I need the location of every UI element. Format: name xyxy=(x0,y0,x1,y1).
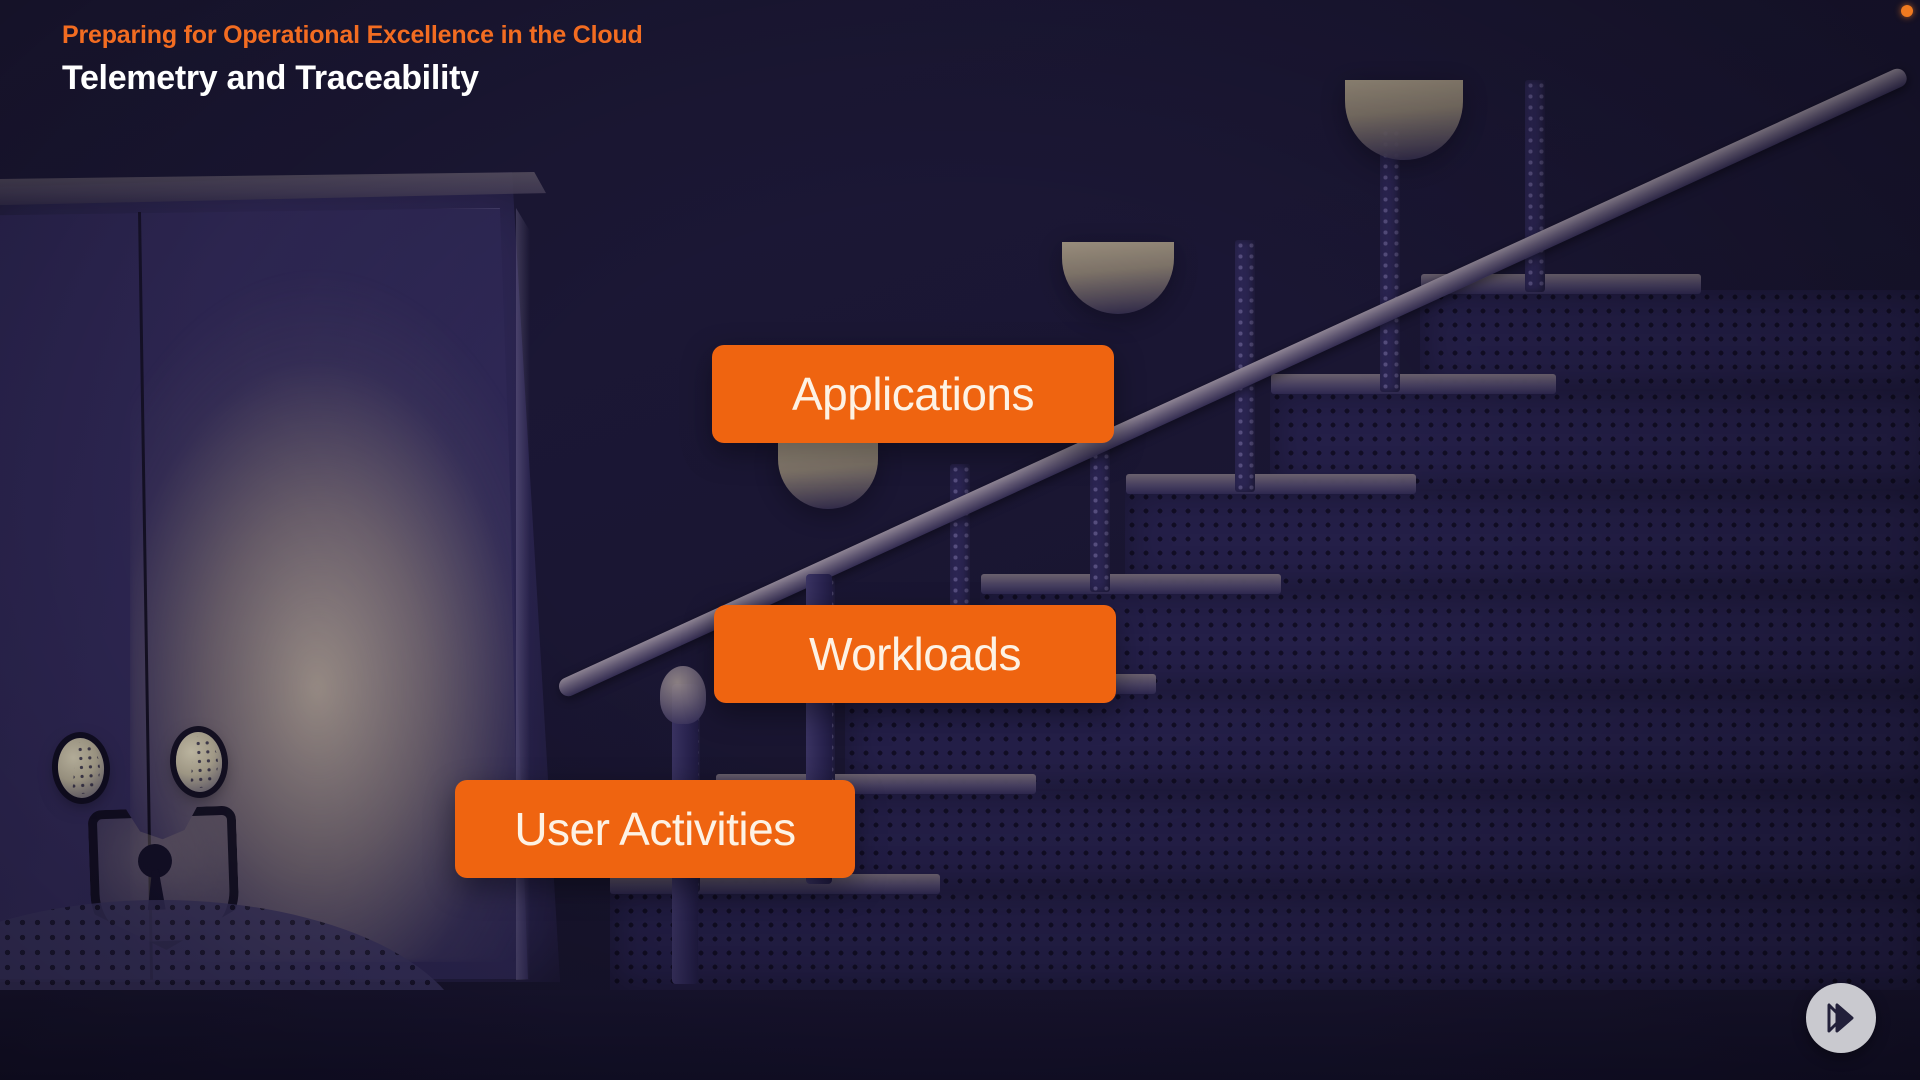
floor xyxy=(0,990,1920,1080)
stair-riser xyxy=(610,890,1920,990)
scene-background xyxy=(0,0,1920,1080)
callout-user-activities[interactable]: User Activities xyxy=(455,780,855,878)
slide-root: Preparing for Operational Excellence in … xyxy=(0,0,1920,1080)
baluster xyxy=(1380,128,1400,392)
brand-badge-button[interactable] xyxy=(1806,983,1876,1053)
doorknob-texture xyxy=(60,741,102,796)
baluster xyxy=(1525,80,1545,292)
staircase xyxy=(620,80,1920,1080)
doorknob-texture xyxy=(178,735,220,790)
double-play-icon xyxy=(1820,997,1862,1039)
stair-tread xyxy=(981,574,1281,594)
stair-tread xyxy=(1271,374,1556,394)
recording-dot xyxy=(1901,5,1913,17)
slide-header: Preparing for Operational Excellence in … xyxy=(62,22,643,97)
page-title: Telemetry and Traceability xyxy=(62,60,643,97)
callout-workloads[interactable]: Workloads xyxy=(714,605,1116,703)
newel-cap xyxy=(660,666,706,724)
slide-eyebrow: Preparing for Operational Excellence in … xyxy=(62,22,643,50)
callout-applications[interactable]: Applications xyxy=(712,345,1114,443)
stair-tread xyxy=(1126,474,1416,494)
